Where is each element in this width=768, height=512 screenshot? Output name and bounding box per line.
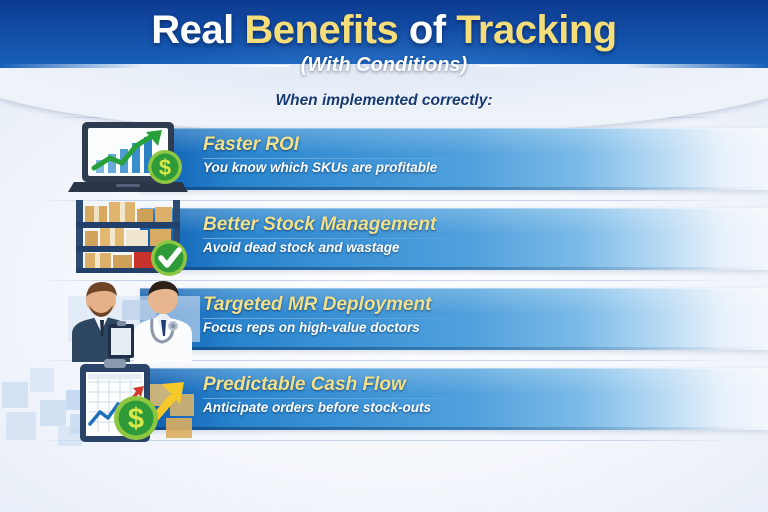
subtitle-rule-right bbox=[479, 65, 557, 67]
laptop-growth-chart-dollar-icon: $ bbox=[68, 118, 198, 198]
benefit-subtitle: Avoid dead stock and wastage bbox=[203, 237, 623, 258]
benefit-subtitle: Focus reps on high-value doctors bbox=[203, 317, 623, 338]
subtitle-rule-left bbox=[211, 65, 289, 67]
benefit-title: Better Stock Management bbox=[203, 212, 623, 237]
title-part-tracking: Tracking bbox=[456, 8, 617, 52]
benefit-text-rule bbox=[203, 238, 503, 239]
title-part-benefits: Benefits bbox=[244, 8, 408, 52]
sales-rep-and-doctor-icon bbox=[68, 276, 200, 362]
intro-text: When implemented correctly: bbox=[0, 92, 768, 110]
benefit-title: Faster ROI bbox=[203, 132, 623, 157]
benefit-subtitle: You know which SKUs are profitable bbox=[203, 157, 623, 178]
subtitle-row: (With Conditions) bbox=[0, 54, 768, 77]
benefit-title: Targeted MR Deployment bbox=[203, 292, 623, 317]
svg-text:$: $ bbox=[128, 403, 144, 435]
title-part-of: of bbox=[409, 8, 456, 52]
title-part-real: Real bbox=[151, 8, 244, 52]
benefit-text-rule bbox=[203, 158, 503, 159]
page-title: Real Benefits of Tracking bbox=[0, 6, 768, 54]
benefit-text-rule bbox=[203, 398, 503, 399]
benefit-text-rule bbox=[203, 318, 503, 319]
benefit-text-block: Better Stock Management Avoid dead stock… bbox=[203, 212, 623, 258]
warehouse-shelf-boxes-icon bbox=[68, 198, 198, 278]
infographic-canvas: Real Benefits of Tracking (With Conditio… bbox=[0, 0, 768, 512]
benefit-title: Predictable Cash Flow bbox=[203, 372, 623, 397]
benefit-text-block: Targeted MR Deployment Focus reps on hig… bbox=[203, 292, 623, 338]
benefit-text-block: Predictable Cash Flow Anticipate orders … bbox=[203, 372, 623, 418]
svg-text:$: $ bbox=[159, 155, 171, 180]
clipboard-chart-arrow-dollar-icon: $ bbox=[66, 356, 202, 448]
benefit-subtitle: Anticipate orders before stock-outs bbox=[203, 397, 623, 418]
benefit-text-block: Faster ROI You know which SKUs are profi… bbox=[203, 132, 623, 178]
page-subtitle: (With Conditions) bbox=[301, 54, 467, 77]
